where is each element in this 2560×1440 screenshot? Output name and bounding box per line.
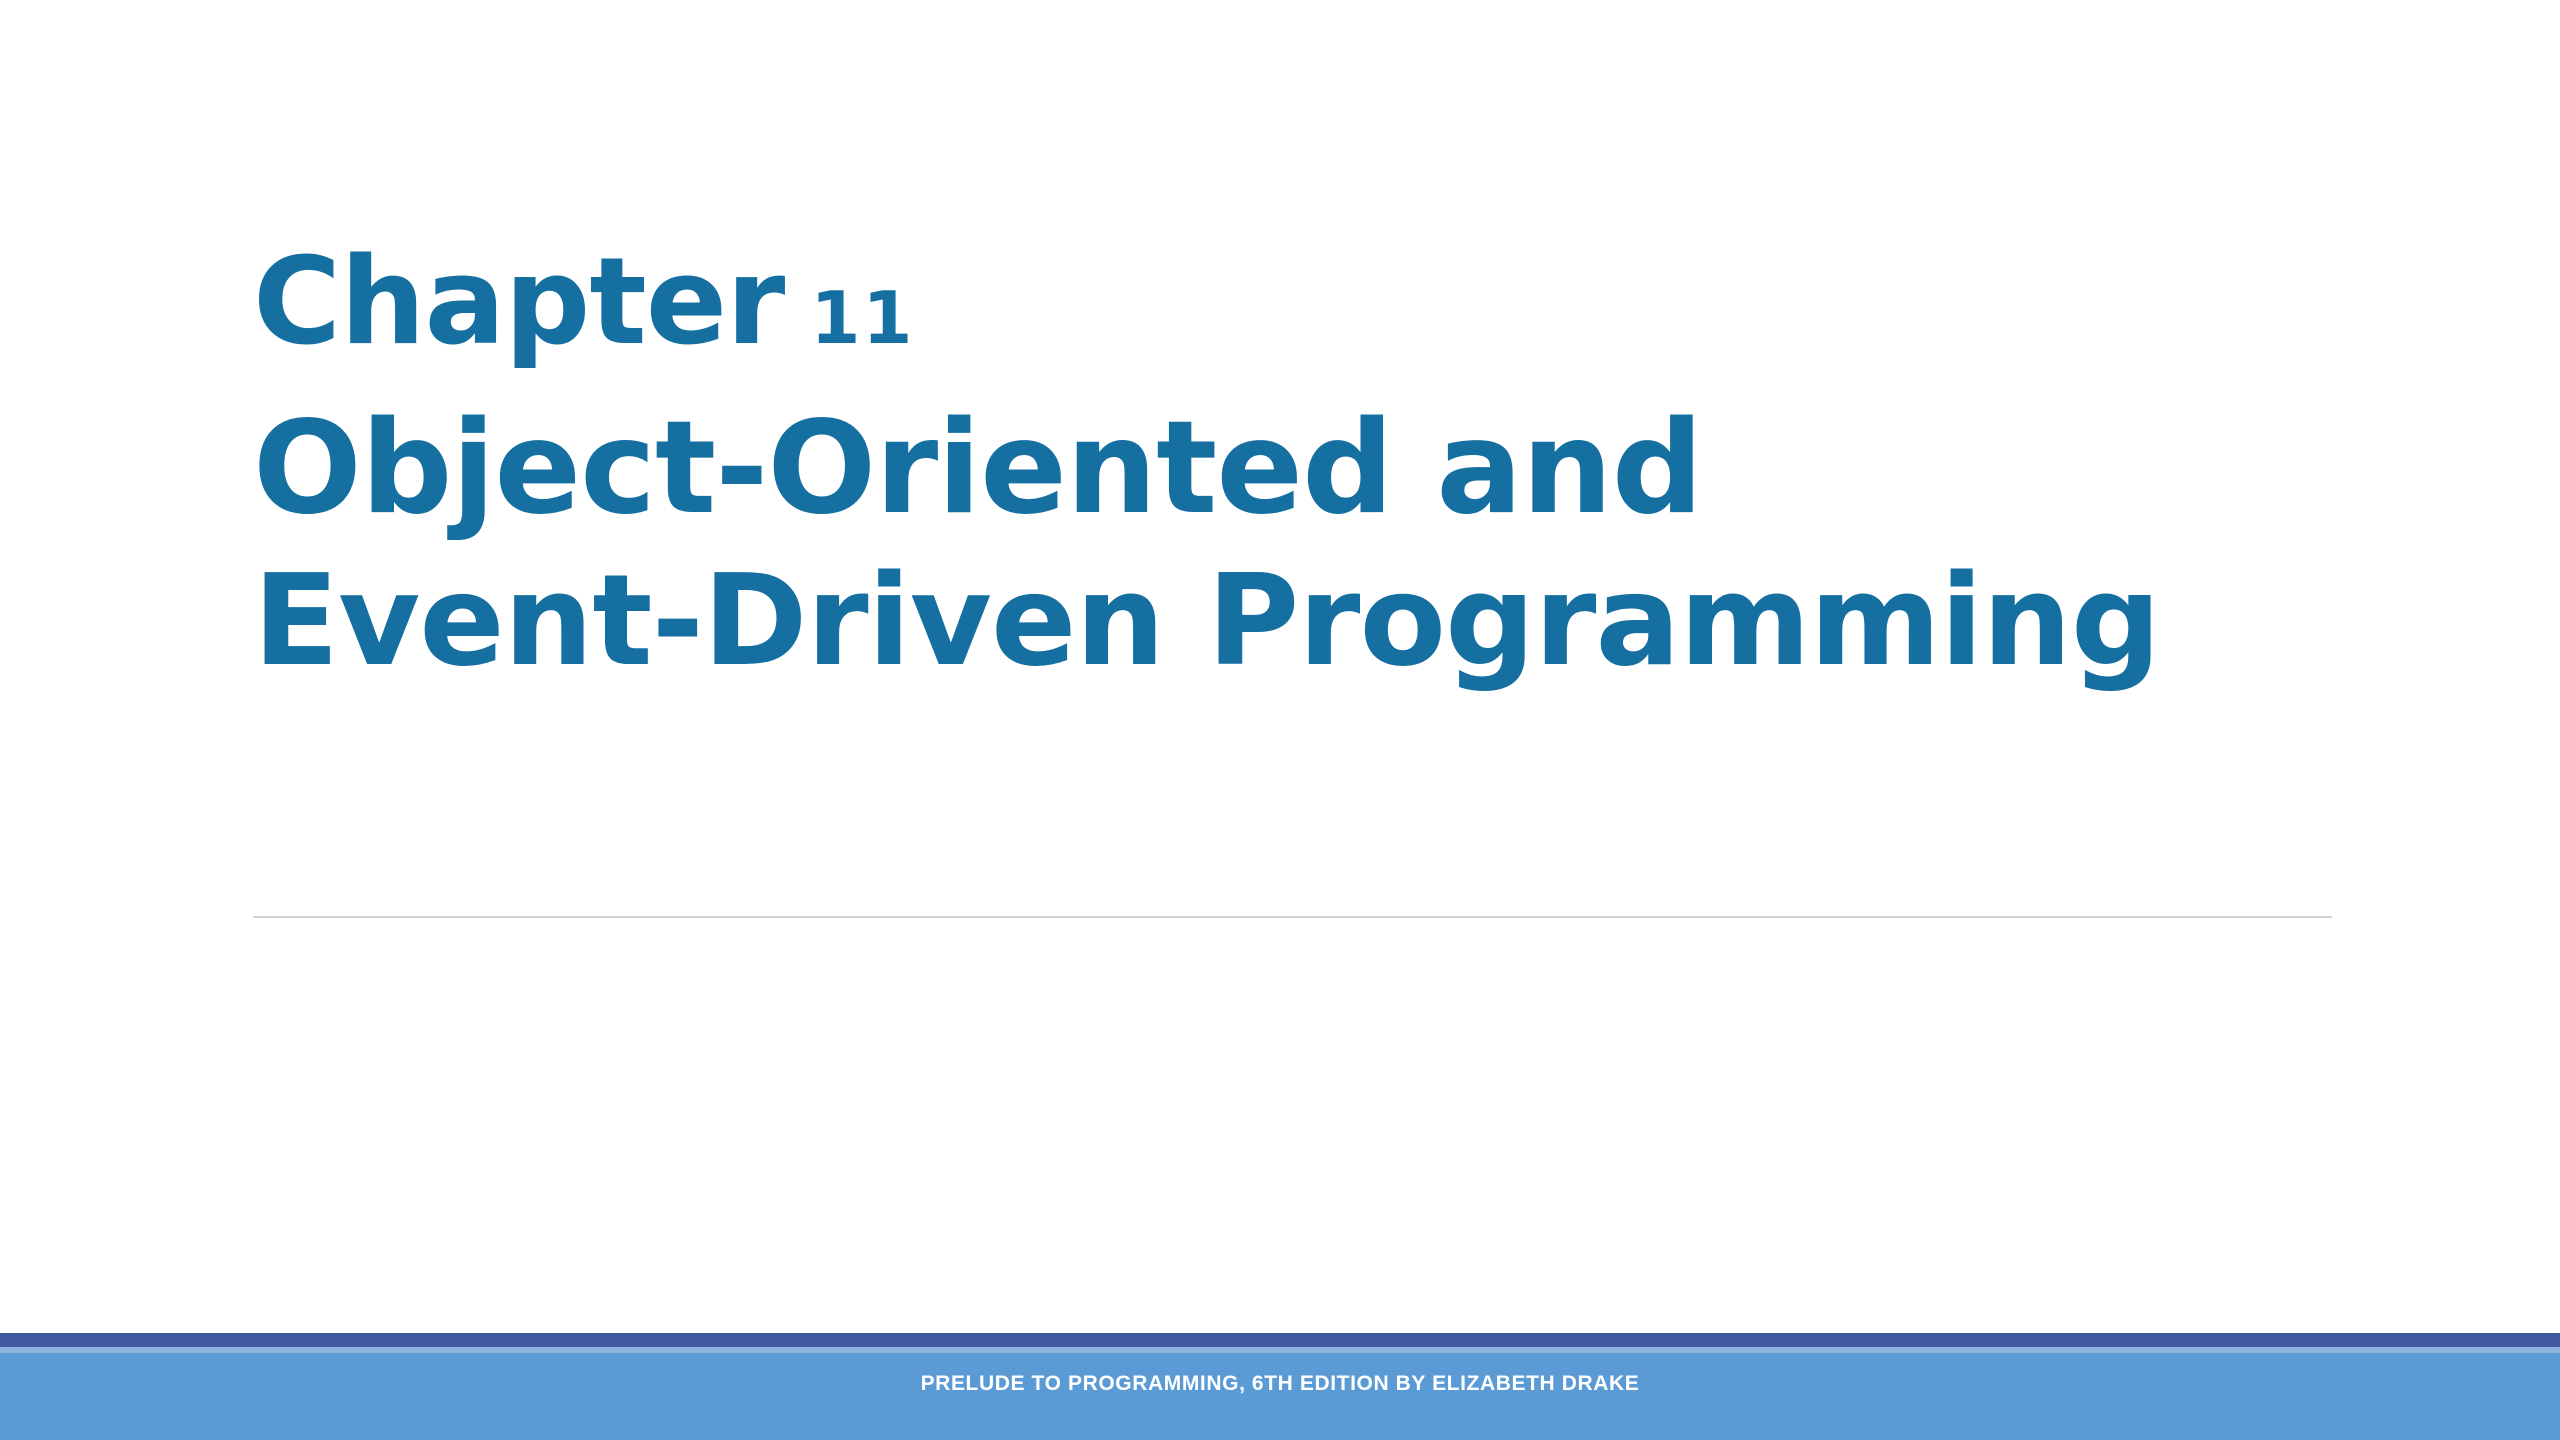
slide-title-block: Chapter11 Object-Oriented and Event-Driv… — [253, 228, 2353, 697]
slide-title-line-3: Event-Driven Programming — [253, 545, 2353, 697]
title-divider-rule — [253, 916, 2332, 918]
slide-footer: Prelude to Programming, 6th Edition by E… — [0, 1333, 2560, 1440]
chapter-label: Chapter — [253, 233, 784, 372]
footer-accent-stripe — [0, 1333, 2560, 1347]
chapter-heading: Chapter11 — [253, 228, 2353, 393]
footer-attribution-text: Prelude to Programming, 6th Edition by E… — [0, 1353, 2560, 1440]
slide-title-line-2: Object-Oriented and — [253, 393, 2353, 545]
presentation-slide: Chapter11 Object-Oriented and Event-Driv… — [0, 0, 2560, 1440]
chapter-number: 11 — [784, 276, 914, 360]
